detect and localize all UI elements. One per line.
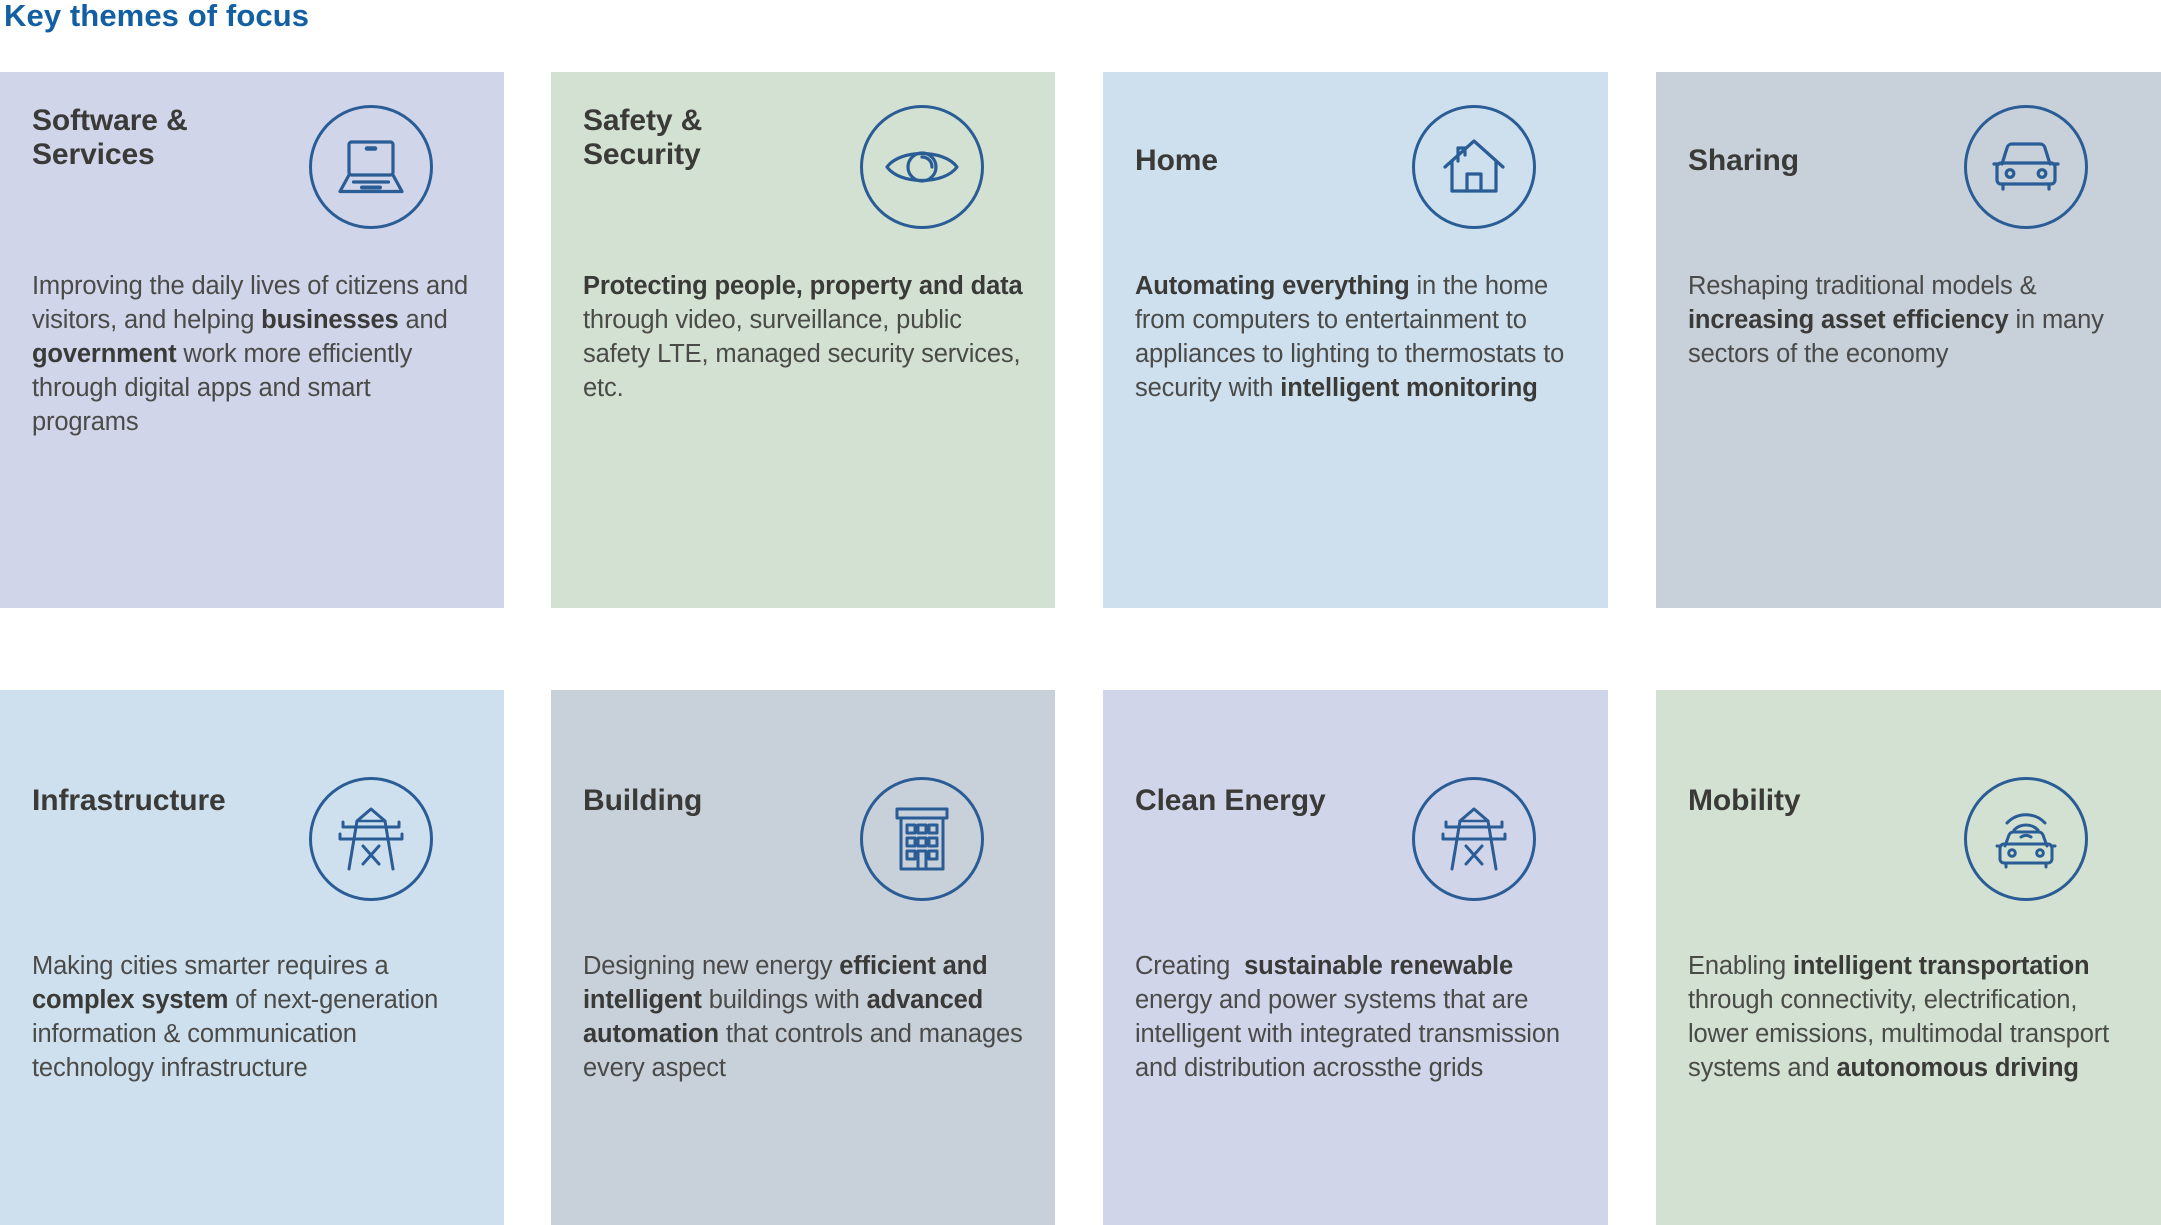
card-title-line: Infrastructure [32,784,226,817]
card-title-line: Sharing [1688,144,1799,177]
card-body: Reshaping traditional models & increasin… [1688,270,2133,372]
card-body: Automating everything in the home from c… [1135,270,1580,406]
card-title: Clean Energy [1135,784,1435,818]
card-clean-energy[interactable]: Clean Energy Creating sustainable renewa… [1103,690,1608,1225]
card-title-line: Services [32,138,155,171]
card-title: Building [583,784,883,818]
card-body: Designing new energy efficient and intel… [583,950,1027,1086]
slide-root: Key themes of focus Software & Services … [0,0,2161,1225]
card-body: Protecting people, property and data thr… [583,270,1027,406]
card-title-line: Security [583,138,701,171]
card-software-services[interactable]: Software & Services Improving the daily … [0,72,504,608]
card-infrastructure[interactable]: Infrastructure Making cities smarter req… [0,690,504,1225]
card-home[interactable]: Home Automating everything in the home f… [1103,72,1608,608]
office-building-icon [860,777,984,901]
card-title-line: Safety & [583,104,702,137]
card-body: Enabling intelligent transportation thro… [1688,950,2133,1086]
card-title-line: Home [1135,144,1218,177]
connected-car-icon [1964,777,2088,901]
page-title: Key themes of focus [4,0,309,34]
card-title-line: Mobility [1688,784,1801,817]
laptop-icon [309,105,433,229]
card-safety-security[interactable]: Safety & Security Protecting people, pro… [551,72,1055,608]
card-sharing[interactable]: Sharing Reshaping traditional models & i… [1656,72,2161,608]
card-mobility[interactable]: Mobility Enabling intelligent transporta… [1656,690,2161,1225]
card-title: Home [1135,144,1435,178]
card-title: Safety & Security [583,104,883,171]
card-title-line: Building [583,784,702,817]
card-body: Improving the daily lives of citizens an… [32,270,476,440]
house-icon [1412,105,1536,229]
card-body: Creating sustainable renewable energy an… [1135,950,1580,1086]
power-tower-icon [1412,777,1536,901]
car-icon [1964,105,2088,229]
card-title: Software & Services [32,104,332,171]
card-title: Mobility [1688,784,1988,818]
themes-grid: Software & Services Improving the daily … [0,72,2161,1225]
eye-icon [860,105,984,229]
card-title: Infrastructure [32,784,332,818]
card-title: Sharing [1688,144,1988,178]
card-title-line: Clean Energy [1135,784,1326,817]
card-building[interactable]: Building Designing new energy effi [551,690,1055,1225]
card-title-line: Software & [32,104,188,137]
power-tower-icon [309,777,433,901]
card-body: Making cities smarter requires a complex… [32,950,476,1086]
